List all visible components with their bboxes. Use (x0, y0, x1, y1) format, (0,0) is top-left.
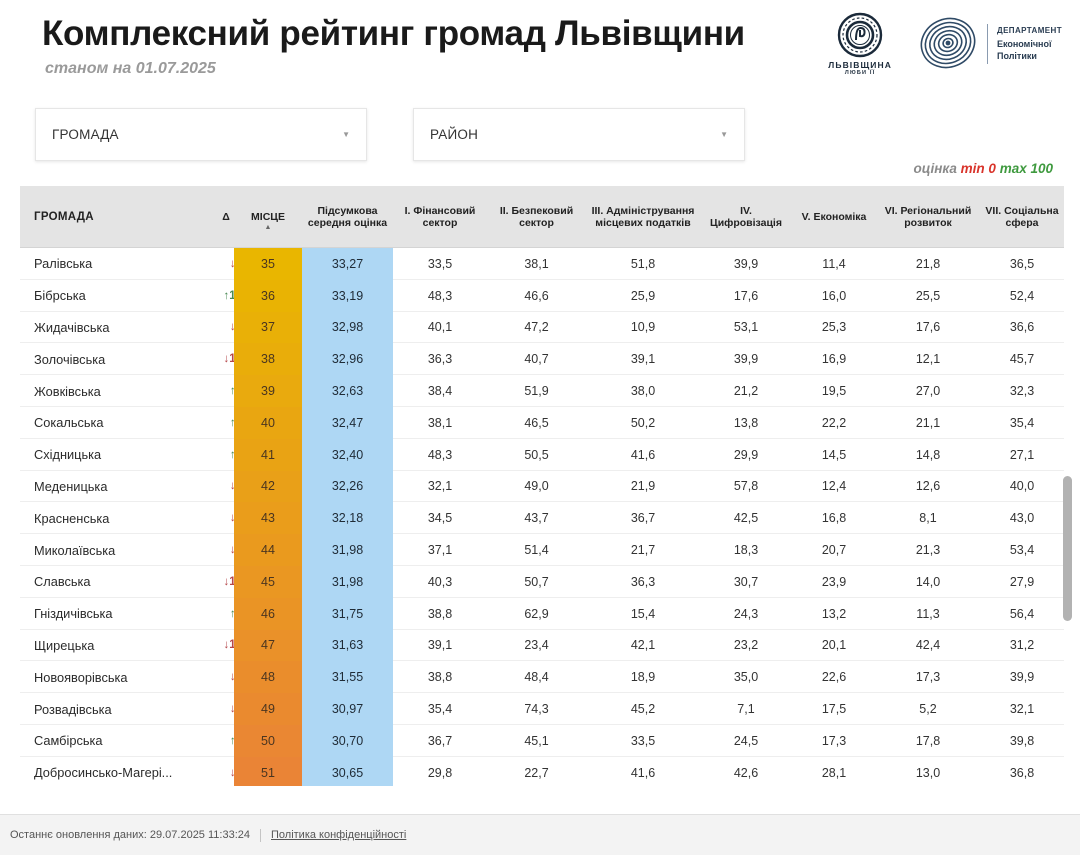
logo-divider (987, 24, 988, 64)
cell-indicator-5: 16,9 (792, 343, 876, 375)
cell-score: 32,26 (302, 471, 393, 503)
cell-indicator-4: 21,2 (700, 375, 792, 407)
cell-indicator-5: 11,4 (792, 248, 876, 280)
cell-indicator-5: 22,2 (792, 407, 876, 439)
cell-score: 33,19 (302, 280, 393, 312)
cell-indicator-2: 46,5 (487, 407, 586, 439)
cell-indicator-1: 40,3 (393, 566, 487, 598)
cell-indicator-6: 17,8 (876, 725, 980, 757)
lviv-logo-line2: ЛЮБИ ЇЇ (845, 70, 875, 76)
cell-score: 31,98 (302, 534, 393, 566)
cell-place: 44 (234, 534, 302, 566)
cell-indicator-5: 28,1 (792, 757, 876, 786)
cell-indicator-4: 18,3 (700, 534, 792, 566)
table-header-row: ГРОМАДА Δ МІСЦЕ ▲ Підсумкова середня оці… (20, 186, 1064, 248)
cell-indicator-2: 51,4 (487, 534, 586, 566)
col-header-financial[interactable]: I. Фінансовий сектор (393, 186, 487, 248)
table-row[interactable]: Новояворівська↓44831,5538,848,418,935,02… (20, 661, 1064, 693)
cell-score: 31,63 (302, 630, 393, 662)
cell-indicator-7: 31,2 (980, 630, 1064, 662)
cell-indicator-4: 39,9 (700, 248, 792, 280)
cell-place: 48 (234, 661, 302, 693)
dep-line1: ДЕПАРТАМЕНТ (997, 25, 1062, 38)
cell-place: 50 (234, 725, 302, 757)
cell-hromada-name: Розвадівська (20, 693, 206, 725)
cell-indicator-2: 40,7 (487, 343, 586, 375)
cell-indicator-1: 38,8 (393, 661, 487, 693)
cell-place: 51 (234, 757, 302, 786)
cell-indicator-6: 8,1 (876, 502, 980, 534)
col-header-regional[interactable]: VI. Регіональний розвиток (876, 186, 980, 248)
cell-indicator-6: 21,1 (876, 407, 980, 439)
cell-indicator-7: 32,3 (980, 375, 1064, 407)
cell-hromada-name: Бібрська (20, 280, 206, 312)
cell-indicator-3: 25,9 (586, 280, 700, 312)
cell-indicator-6: 12,6 (876, 471, 980, 503)
cell-hromada-name: Жовківська (20, 375, 206, 407)
scale-prefix: оцінка (914, 161, 957, 176)
cell-indicator-1: 48,3 (393, 280, 487, 312)
cell-place: 42 (234, 471, 302, 503)
cell-indicator-5: 14,5 (792, 439, 876, 471)
hromada-filter-dropdown[interactable]: ГРОМАДА ▼ (35, 108, 367, 161)
cell-indicator-4: 53,1 (700, 312, 792, 344)
cell-score: 30,97 (302, 693, 393, 725)
cell-indicator-7: 36,6 (980, 312, 1064, 344)
col-header-security[interactable]: II. Безпековий сектор (487, 186, 586, 248)
cell-indicator-6: 11,3 (876, 598, 980, 630)
cell-indicator-1: 32,1 (393, 471, 487, 503)
scrollbar-thumb[interactable] (1063, 476, 1072, 621)
cell-indicator-1: 35,4 (393, 693, 487, 725)
col-header-economy[interactable]: V. Економіка (792, 186, 876, 248)
cell-indicator-1: 36,7 (393, 725, 487, 757)
cell-hromada-name: Красненська (20, 502, 206, 534)
cell-indicator-3: 45,2 (586, 693, 700, 725)
cell-indicator-4: 7,1 (700, 693, 792, 725)
cell-indicator-3: 50,2 (586, 407, 700, 439)
raion-filter-label: РАЙОН (430, 127, 478, 142)
sort-asc-icon: ▲ (265, 222, 272, 235)
footer-divider (260, 829, 261, 842)
dep-line2: Економічної (997, 38, 1062, 51)
cell-indicator-1: 37,1 (393, 534, 487, 566)
department-logo: ДЕПАРТАМЕНТ Економічної Політики (918, 15, 1062, 73)
cell-hromada-name: Щирецька (20, 630, 206, 662)
privacy-policy-link[interactable]: Політика конфіденційності (271, 829, 406, 841)
page-header: Комплексний рейтинг громад Львівщини ста… (0, 0, 1080, 96)
scale-max: max 100 (1000, 161, 1053, 176)
cell-score: 31,75 (302, 598, 393, 630)
cell-indicator-6: 17,3 (876, 661, 980, 693)
cell-indicator-6: 13,0 (876, 757, 980, 786)
cell-indicator-4: 23,2 (700, 630, 792, 662)
cell-indicator-4: 35,0 (700, 661, 792, 693)
table-row[interactable]: Щирецька↓104731,6339,123,442,123,220,142… (20, 630, 1064, 662)
last-update-text: Останнє оновлення даних: 29.07.2025 11:3… (10, 829, 250, 841)
cell-place: 49 (234, 693, 302, 725)
cell-score: 30,65 (302, 757, 393, 786)
table-row[interactable]: Славська↓144531,9840,350,736,330,723,914… (20, 566, 1064, 598)
table-row[interactable]: Розвадівська↓44930,9735,474,345,27,117,5… (20, 693, 1064, 725)
cell-indicator-7: 53,4 (980, 534, 1064, 566)
cell-place: 36 (234, 280, 302, 312)
cell-indicator-6: 17,6 (876, 312, 980, 344)
department-logo-text: ДЕПАРТАМЕНТ Економічної Політики (997, 25, 1062, 63)
cell-indicator-2: 74,3 (487, 693, 586, 725)
cell-indicator-3: 41,6 (586, 757, 700, 786)
lviv-emblem-icon (837, 12, 883, 58)
cell-hromada-name: Меденицька (20, 471, 206, 503)
cell-indicator-1: 38,1 (393, 407, 487, 439)
cell-hromada-name: Жидачівська (20, 312, 206, 344)
cell-indicator-1: 38,4 (393, 375, 487, 407)
chevron-down-icon[interactable]: ▼ (720, 130, 728, 139)
cell-indicator-6: 21,8 (876, 248, 980, 280)
cell-hromada-name: Ралівська (20, 248, 206, 280)
cell-indicator-5: 23,9 (792, 566, 876, 598)
cell-indicator-7: 32,1 (980, 693, 1064, 725)
cell-indicator-6: 25,5 (876, 280, 980, 312)
cell-indicator-4: 42,6 (700, 757, 792, 786)
cell-indicator-2: 48,4 (487, 661, 586, 693)
cell-indicator-1: 38,8 (393, 598, 487, 630)
col-header-score[interactable]: Підсумкова середня оцінка (302, 186, 393, 248)
cell-place: 45 (234, 566, 302, 598)
cell-place: 35 (234, 248, 302, 280)
cell-hromada-name: Славська (20, 566, 206, 598)
cell-hromada-name: Самбірська (20, 725, 206, 757)
cell-indicator-5: 20,7 (792, 534, 876, 566)
cell-indicator-7: 56,4 (980, 598, 1064, 630)
cell-indicator-7: 35,4 (980, 407, 1064, 439)
cell-indicator-7: 27,1 (980, 439, 1064, 471)
lvivshchyna-logo: ЛЬВІВЩИНА ЛЮБИ ЇЇ (828, 12, 892, 76)
lviv-logo-line1: ЛЬВІВЩИНА (828, 60, 892, 70)
cell-indicator-7: 36,8 (980, 757, 1064, 786)
cell-indicator-7: 27,9 (980, 566, 1064, 598)
cell-indicator-6: 14,8 (876, 439, 980, 471)
col-header-taxes[interactable]: III. Адміністрування місцевих податків (586, 186, 700, 248)
cell-hromada-name: Гніздичівська (20, 598, 206, 630)
cell-hromada-name: Східницька (20, 439, 206, 471)
table-row[interactable]: Жовківська↑73932,6338,451,938,021,219,52… (20, 375, 1064, 407)
cell-place: 37 (234, 312, 302, 344)
cell-indicator-7: 40,0 (980, 471, 1064, 503)
cell-score: 30,70 (302, 725, 393, 757)
cell-score: 31,55 (302, 661, 393, 693)
cell-score: 32,47 (302, 407, 393, 439)
cell-indicator-2: 49,0 (487, 471, 586, 503)
cell-indicator-6: 5,2 (876, 693, 980, 725)
table-row[interactable]: Меденицька↓44232,2632,149,021,957,812,41… (20, 471, 1064, 503)
table-row[interactable]: Ралівська↓33533,2733,538,151,839,911,421… (20, 248, 1064, 280)
table-row[interactable]: Золочівська↓133832,9636,340,739,139,916,… (20, 343, 1064, 375)
cell-indicator-4: 42,5 (700, 502, 792, 534)
cell-hromada-name: Миколаївська (20, 534, 206, 566)
cell-indicator-6: 14,0 (876, 566, 980, 598)
table-row[interactable]: Бібрська↑143633,1948,346,625,917,616,025… (20, 280, 1064, 312)
cell-indicator-5: 22,6 (792, 661, 876, 693)
cell-score: 32,40 (302, 439, 393, 471)
cell-indicator-3: 18,9 (586, 661, 700, 693)
cell-indicator-6: 21,3 (876, 534, 980, 566)
cell-indicator-2: 46,6 (487, 280, 586, 312)
table-row[interactable]: Сокальська↑94032,4738,146,550,213,822,22… (20, 407, 1064, 439)
cell-indicator-4: 39,9 (700, 343, 792, 375)
cell-indicator-3: 42,1 (586, 630, 700, 662)
cell-indicator-3: 36,3 (586, 566, 700, 598)
cell-indicator-1: 33,5 (393, 248, 487, 280)
table-row[interactable]: Східницька↑24132,4048,350,541,629,914,51… (20, 439, 1064, 471)
dep-line3: Політики (997, 50, 1062, 63)
chevron-down-icon[interactable]: ▼ (342, 130, 350, 139)
table-scrollbar[interactable] (1063, 248, 1072, 786)
table-row[interactable]: Гніздичівська↑24631,7538,862,915,424,313… (20, 598, 1064, 630)
cell-indicator-7: 39,8 (980, 725, 1064, 757)
cell-hromada-name: Новояворівська (20, 661, 206, 693)
cell-indicator-5: 13,2 (792, 598, 876, 630)
table-row[interactable]: Добросинсько-Магері...↓45130,6529,822,74… (20, 757, 1064, 786)
cell-indicator-7: 39,9 (980, 661, 1064, 693)
cell-indicator-2: 62,9 (487, 598, 586, 630)
col-header-social[interactable]: VII. Соціальна сфера (980, 186, 1064, 248)
cell-indicator-7: 45,7 (980, 343, 1064, 375)
cell-indicator-6: 42,4 (876, 630, 980, 662)
cell-indicator-3: 38,0 (586, 375, 700, 407)
cell-hromada-name: Сокальська (20, 407, 206, 439)
cell-indicator-1: 34,5 (393, 502, 487, 534)
cell-indicator-3: 36,7 (586, 502, 700, 534)
cell-place: 40 (234, 407, 302, 439)
ranking-table: ГРОМАДА Δ МІСЦЕ ▲ Підсумкова середня оці… (20, 186, 1064, 786)
cell-indicator-4: 13,8 (700, 407, 792, 439)
cell-indicator-4: 30,7 (700, 566, 792, 598)
cell-indicator-3: 41,6 (586, 439, 700, 471)
cell-indicator-2: 45,1 (487, 725, 586, 757)
cell-indicator-2: 23,4 (487, 630, 586, 662)
cell-indicator-3: 39,1 (586, 343, 700, 375)
cell-place: 46 (234, 598, 302, 630)
cell-indicator-4: 57,8 (700, 471, 792, 503)
table-row[interactable]: Жидачівська↓83732,9840,147,210,953,125,3… (20, 312, 1064, 344)
cell-indicator-7: 52,4 (980, 280, 1064, 312)
col-header-place[interactable]: МІСЦЕ ▲ (234, 186, 302, 248)
cell-indicator-6: 12,1 (876, 343, 980, 375)
footer-spacer (0, 800, 1080, 814)
cell-indicator-3: 33,5 (586, 725, 700, 757)
page-title: Комплексний рейтинг громад Львівщини (42, 14, 745, 54)
cell-place: 39 (234, 375, 302, 407)
page-subtitle: станом на 01.07.2025 (45, 60, 216, 78)
cell-indicator-3: 51,8 (586, 248, 700, 280)
cell-indicator-5: 17,3 (792, 725, 876, 757)
cell-indicator-1: 48,3 (393, 439, 487, 471)
page-footer: Останнє оновлення даних: 29.07.2025 11:3… (0, 814, 1080, 855)
cell-indicator-2: 51,9 (487, 375, 586, 407)
cell-place: 47 (234, 630, 302, 662)
dashboard-page: Комплексний рейтинг громад Львівщини ста… (0, 0, 1080, 855)
cell-hromada-name: Добросинсько-Магері... (20, 757, 206, 786)
cell-indicator-5: 17,5 (792, 693, 876, 725)
table-row[interactable]: Красненська↓74332,1834,543,736,742,516,8… (20, 502, 1064, 534)
cell-indicator-1: 29,8 (393, 757, 487, 786)
table-body: Ралівська↓33533,2733,538,151,839,911,421… (20, 248, 1064, 786)
cell-score: 32,98 (302, 312, 393, 344)
cell-indicator-2: 50,5 (487, 439, 586, 471)
table-row[interactable]: Миколаївська↓54431,9837,151,421,718,320,… (20, 534, 1064, 566)
cell-indicator-5: 19,5 (792, 375, 876, 407)
cell-indicator-1: 40,1 (393, 312, 487, 344)
cell-indicator-3: 15,4 (586, 598, 700, 630)
cell-indicator-5: 20,1 (792, 630, 876, 662)
cell-indicator-1: 39,1 (393, 630, 487, 662)
col-header-digital[interactable]: IV. Цифровізація (700, 186, 792, 248)
hromada-filter-label: ГРОМАДА (52, 127, 119, 142)
cell-indicator-2: 50,7 (487, 566, 586, 598)
raion-filter-dropdown[interactable]: РАЙОН ▼ (413, 108, 745, 161)
cell-indicator-4: 17,6 (700, 280, 792, 312)
cell-score: 31,98 (302, 566, 393, 598)
cell-indicator-2: 22,7 (487, 757, 586, 786)
cell-score: 32,96 (302, 343, 393, 375)
cell-indicator-4: 29,9 (700, 439, 792, 471)
cell-indicator-2: 38,1 (487, 248, 586, 280)
scale-min: min 0 (961, 161, 996, 176)
cell-indicator-2: 43,7 (487, 502, 586, 534)
cell-place: 38 (234, 343, 302, 375)
cell-indicator-2: 47,2 (487, 312, 586, 344)
cell-place: 43 (234, 502, 302, 534)
cell-indicator-3: 21,9 (586, 471, 700, 503)
cell-indicator-5: 25,3 (792, 312, 876, 344)
cell-indicator-3: 10,9 (586, 312, 700, 344)
cell-place: 41 (234, 439, 302, 471)
cell-indicator-1: 36,3 (393, 343, 487, 375)
cell-score: 32,18 (302, 502, 393, 534)
col-header-hromada[interactable]: ГРОМАДА (20, 186, 206, 248)
cell-indicator-7: 43,0 (980, 502, 1064, 534)
cell-indicator-5: 16,8 (792, 502, 876, 534)
cell-indicator-7: 36,5 (980, 248, 1064, 280)
cell-indicator-4: 24,3 (700, 598, 792, 630)
cell-hromada-name: Золочівська (20, 343, 206, 375)
logo-group: ЛЬВІВЩИНА ЛЮБИ ЇЇ (828, 12, 1062, 76)
concentric-rings-icon (918, 15, 978, 73)
cell-indicator-5: 12,4 (792, 471, 876, 503)
cell-indicator-4: 24,5 (700, 725, 792, 757)
cell-indicator-6: 27,0 (876, 375, 980, 407)
scale-legend: оцінка min 0 max 100 (914, 161, 1053, 176)
table-row[interactable]: Самбірська↑15030,7036,745,133,524,517,31… (20, 725, 1064, 757)
cell-indicator-3: 21,7 (586, 534, 700, 566)
cell-indicator-5: 16,0 (792, 280, 876, 312)
cell-score: 33,27 (302, 248, 393, 280)
cell-score: 32,63 (302, 375, 393, 407)
